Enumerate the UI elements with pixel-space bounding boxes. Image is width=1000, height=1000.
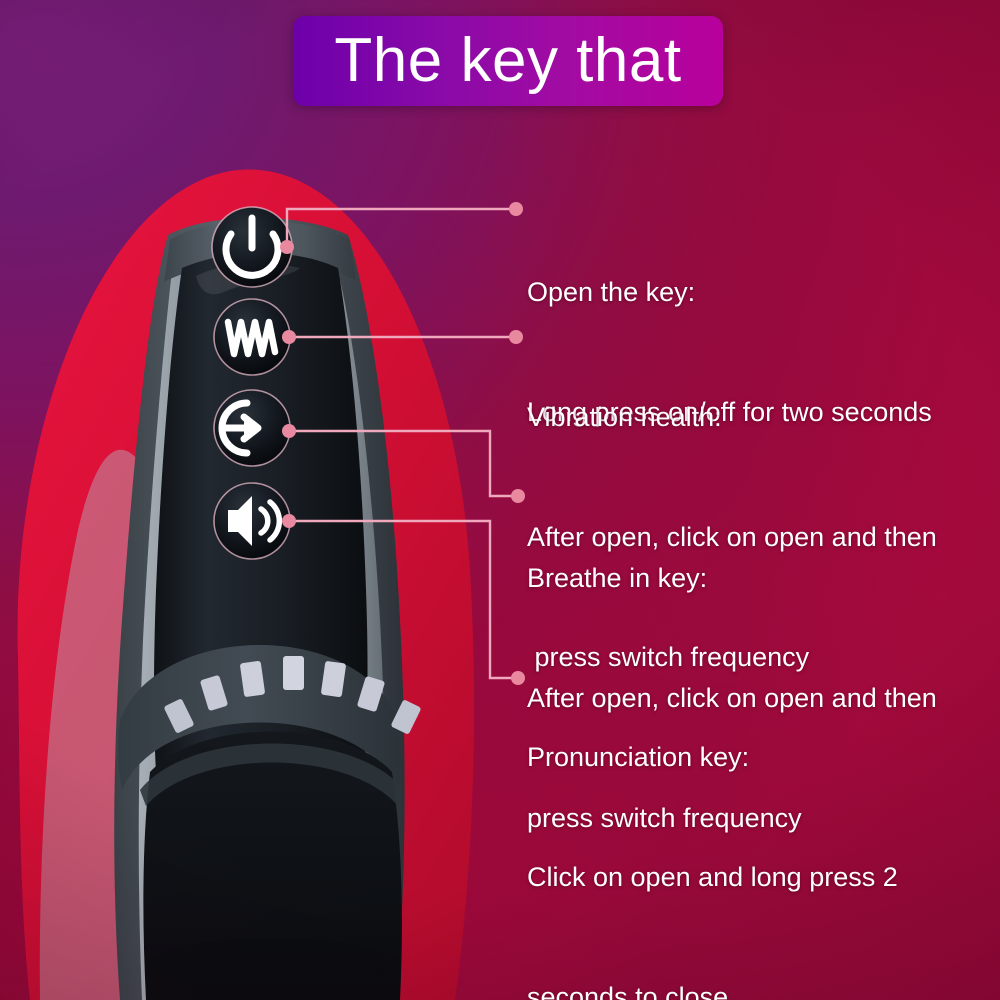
title-banner: The key that [293, 16, 723, 106]
promo-image-root: Open the key: Long press on/off for two … [0, 0, 1000, 1000]
page-title: The key that [334, 30, 681, 92]
callout-title: Breathe in key: [527, 558, 937, 598]
callout-line-2: seconds to close [527, 977, 898, 1000]
callout-title: Vibration health: [527, 397, 937, 437]
callout-pronunciation-key: Pronunciation key: Click on open and lon… [527, 657, 898, 1000]
callout-line-1: Click on open and long press 2 [527, 857, 898, 897]
callout-title: Open the key: [527, 272, 932, 312]
callout-title: Pronunciation key: [527, 737, 898, 777]
